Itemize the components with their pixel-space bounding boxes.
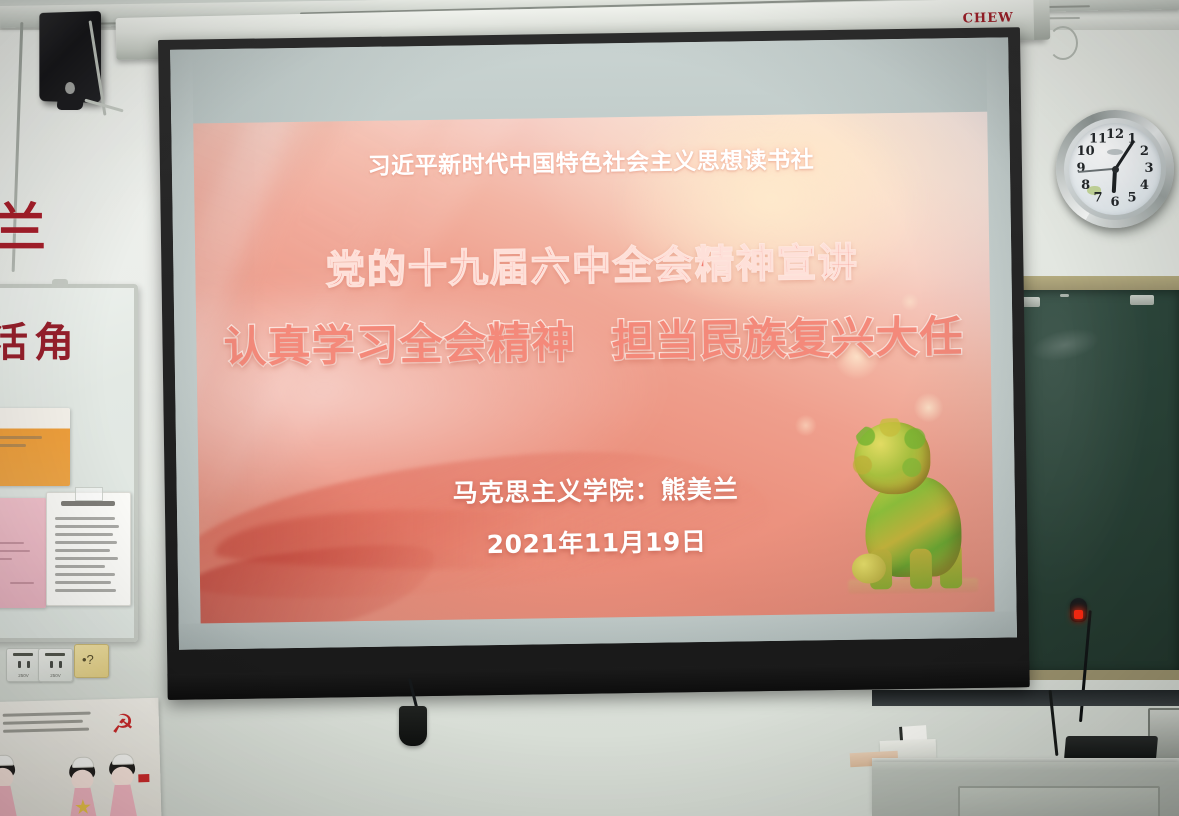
power-outlet[interactable]: 250V (38, 648, 73, 682)
slide-kicker: 习近平新时代中国特色社会主义思想读书社 (367, 140, 814, 181)
clock-numeral: 11 (1089, 132, 1107, 147)
slide-slogan: 认真学习全会精神担当民族复兴大任 (223, 302, 964, 375)
clock-face: 121234567891011 (1069, 123, 1161, 215)
whiteboard-title: 活角 (0, 310, 80, 368)
housing-mount-hook (1048, 26, 1078, 60)
department-phone-list (46, 492, 131, 606)
chalkboard-label-tab (1130, 295, 1154, 305)
clock-numeral: 5 (1123, 190, 1141, 205)
pink-notice (0, 498, 46, 608)
screen-unlit-margin (170, 37, 1009, 123)
screen-pull-weight[interactable] (399, 706, 427, 746)
classroom-photo: 兰 活角 250V (0, 0, 1179, 816)
cartoon-child: ★ (62, 759, 104, 816)
microphone-led-indicator (1074, 610, 1083, 619)
clock-numeral: 9 (1072, 161, 1090, 176)
clock-numeral: 6 (1106, 195, 1124, 210)
orange-poster (0, 408, 70, 486)
housing-endcap (1033, 0, 1050, 40)
clock-brand-logo (1107, 149, 1123, 155)
chalkboard-mark (1060, 294, 1069, 297)
screen-surface: 习近平新时代中国特色社会主义思想读书社 党的十九届六中全会精神宣讲 认真学习全会… (170, 37, 1017, 649)
desk-keyboard[interactable] (1064, 736, 1158, 760)
clock-numeral: 3 (1140, 161, 1158, 176)
slide-text-block: 习近平新时代中国特色社会主义思想读书社 党的十九届六中全会精神宣讲 认真学习全会… (193, 112, 994, 624)
hammer-sickle-icon: ☭ (111, 710, 138, 739)
speaker-bracket (56, 100, 83, 110)
slogan-right: 担当民族复兴大任 (611, 312, 964, 367)
clock-center-pin (1112, 166, 1119, 173)
slogan-left: 认真学习全会精神 (223, 318, 576, 373)
desk-back-shadow (872, 690, 1179, 706)
poster-text-lines (3, 711, 96, 737)
power-outlet[interactable]: 250V (6, 648, 41, 682)
slide-date: 2021年11月19日 (486, 522, 706, 561)
childrens-drawing-poster: ☭ ★ (0, 698, 162, 816)
slide-title: 党的十九届六中全会精神宣讲 (325, 232, 859, 296)
small-red-flag-icon (138, 774, 149, 782)
wall-character: 兰 (0, 186, 48, 261)
clock-hour-hand (1112, 169, 1117, 193)
podium-front-panel (958, 786, 1160, 816)
cartoon-child (0, 757, 24, 816)
network-outlet[interactable]: •? (74, 644, 109, 678)
left-whiteboard: 活角 (0, 284, 138, 642)
projection-screen: 习近平新时代中国特色社会主义思想读书社 党的十九届六中全会精神宣讲 认真学习全会… (158, 27, 1030, 700)
projected-slide: 习近平新时代中国特色社会主义思想读书社 党的十九届六中全会精神宣讲 认真学习全会… (193, 112, 994, 624)
wall-clock: 121234567891011 (1056, 110, 1178, 234)
whiteboard-clip (52, 279, 68, 288)
clock-numeral: 8 (1077, 178, 1095, 193)
clock-numeral: 2 (1135, 144, 1153, 159)
phone-list-heading (61, 501, 115, 506)
chalk-smudge (1028, 323, 1103, 367)
clock-numeral: 12 (1106, 127, 1124, 142)
projector-brand-logo: CHEW (962, 10, 1013, 26)
slide-presenter: 马克思主义学院：熊美兰 (452, 469, 739, 509)
cartoon-child (102, 756, 144, 816)
